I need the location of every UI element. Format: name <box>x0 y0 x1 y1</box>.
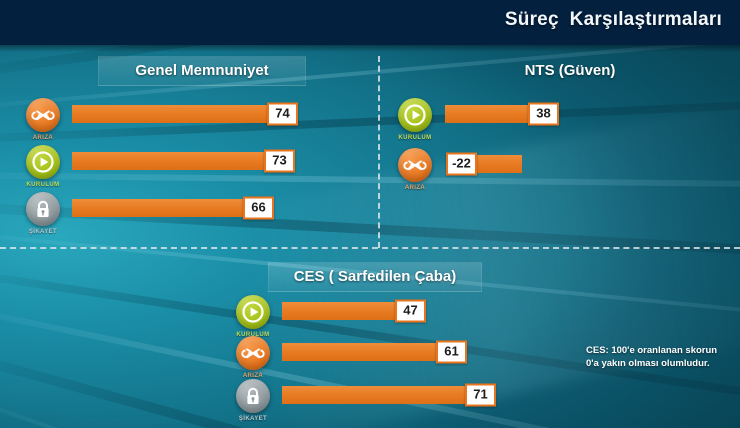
progress-bar-value: 38 <box>528 103 559 126</box>
title-bar-shadow <box>0 45 740 52</box>
progress-bar-fill <box>282 386 489 404</box>
progress-bar-value: 74 <box>267 103 298 126</box>
progress-bar: -22 <box>441 151 730 177</box>
progress-bar: 74 <box>68 101 372 127</box>
page-title: Süreç Karşılaştırmaları <box>505 9 722 31</box>
progress-bar: 66 <box>68 195 372 221</box>
icon-chip-kurulum: KURULUM <box>392 98 438 141</box>
icon-chip-kurulum: KURULUM <box>230 295 276 338</box>
ces-note-line-1: CES: 100'e oranlanan skorun <box>586 344 736 357</box>
icon-chip-ariza: ARIZA <box>392 148 438 191</box>
section-title-genel-memnuniyet: Genel Memnuniyet <box>98 56 306 86</box>
lock-icon <box>26 192 60 226</box>
ces-note: CES: 100'e oranlanan skorun 0'a yakın ol… <box>586 344 736 370</box>
play-circle-icon <box>236 295 270 329</box>
progress-bar: 61 <box>278 339 578 365</box>
ces-note-line-2: 0'a yakın olması olumludur. <box>586 357 736 370</box>
broken-wrench-icon <box>236 336 270 370</box>
broken-wrench-icon <box>398 148 432 182</box>
progress-bar: 73 <box>68 148 372 174</box>
progress-bar-fill <box>72 199 267 217</box>
progress-bar-value: 61 <box>436 341 467 364</box>
progress-bar-fill <box>282 343 460 361</box>
slide-canvas: Süreç Karşılaştırmaları Genel Memnuniyet… <box>0 0 740 428</box>
horizontal-divider <box>0 247 740 249</box>
icon-chip-ariza: ARIZA <box>230 336 276 379</box>
progress-bar: 38 <box>441 101 730 127</box>
icon-chip-label: KURULUM <box>20 182 66 188</box>
progress-bar-fill <box>72 152 288 170</box>
icon-chip-label: ARIZA <box>20 135 66 141</box>
progress-bar-fill <box>72 105 291 123</box>
play-circle-icon <box>26 145 60 179</box>
progress-bar-value: 47 <box>395 300 426 323</box>
icon-chip-ariza: ARIZA <box>20 98 66 141</box>
progress-bar: 71 <box>278 382 578 408</box>
progress-bar-value: 73 <box>264 150 295 173</box>
progress-bar-value: 66 <box>243 197 274 220</box>
icon-chip-sikayet: ŞİKAYET <box>20 192 66 235</box>
icon-chip-label: ARIZA <box>392 185 438 191</box>
progress-bar-value: 71 <box>465 384 496 407</box>
icon-chip-label: KURULUM <box>392 135 438 141</box>
icon-chip-label: ŞİKAYET <box>20 229 66 235</box>
progress-bar-value: -22 <box>446 153 477 176</box>
icon-chip-sikayet: ŞİKAYET <box>230 379 276 422</box>
section-title-ces: CES ( Sarfedilen Çaba) <box>268 262 482 292</box>
lock-icon <box>236 379 270 413</box>
broken-wrench-icon <box>26 98 60 132</box>
icon-chip-label: ŞİKAYET <box>230 416 276 422</box>
play-circle-icon <box>398 98 432 132</box>
progress-bar: 47 <box>278 298 578 324</box>
section-title-nts: NTS (Güven) <box>470 60 670 82</box>
icon-chip-kurulum: KURULUM <box>20 145 66 188</box>
vertical-divider <box>378 56 380 248</box>
